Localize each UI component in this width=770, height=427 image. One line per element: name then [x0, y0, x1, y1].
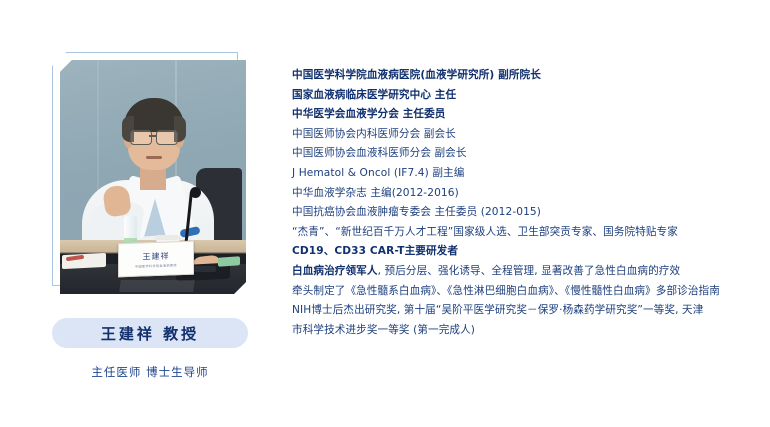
credential-line: “杰青”、“新世纪百千万人才工程”国家级人选、卫生部突贡专家、国务院特贴专家 [292, 223, 764, 243]
speaker-title-subtitle: 主任医师 博士生导师 [52, 364, 248, 380]
credential-line: 中国医学科学院血液病医院(血液学研究所) 副所院长 [292, 66, 764, 86]
photo-mouth [146, 156, 162, 159]
credential-rest: , 预后分层、强化诱导、全程管理, 显著改善了急性白血病的疗效 [378, 265, 681, 277]
credential-line: 牵头制定了《急性髓系白血病》、《急性淋巴细胞白血病》、《慢性髓性白血病》多部诊治… [292, 282, 764, 302]
credential-lead: 白血病治疗领军人 [292, 265, 378, 277]
photo-wall-seam-secondary [97, 60, 99, 200]
credential-line: 中国抗癌协会血液肿瘤专委会 主任委员 (2012-015) [292, 203, 764, 223]
speaker-name: 王建祥 教授 [101, 323, 199, 344]
credential-line: 中华血液学杂志 主编(2012-2016) [292, 184, 764, 204]
photo-green-card [218, 256, 240, 267]
photo-placard-subtext: 中国医学科学院血液病医院 [119, 263, 193, 270]
photo-eyeglass-right [156, 130, 178, 145]
credential-line: 市科学技术进步奖一等奖 (第一完成人) [292, 321, 764, 341]
photo-placard-reflection [119, 280, 195, 292]
credential-line: J Hematol & Oncol (IF7.4) 副主编 [292, 164, 764, 184]
credential-line: 中国医师协会血液科医师分会 副会长 [292, 144, 764, 164]
photo-placard-name: 王建祥 [119, 250, 193, 264]
photo-eyeglass-bridge [149, 135, 157, 137]
photo-cup-lid [155, 235, 179, 240]
speaker-name-badge: 王建祥 教授 [52, 318, 248, 348]
photo-name-placard: 王建祥 中国医学科学院血液病医院 [118, 241, 194, 278]
photo-eyeglass-left [130, 130, 152, 145]
credential-line: NIH博士后杰出研究奖, 第十届“吴阶平医学研究奖－保罗·杨森药学研究奖”一等奖… [292, 301, 764, 321]
credentials-list: 中国医学科学院血液病医院(血液学研究所) 副所院长 国家血液病临床医学研究中心 … [292, 66, 764, 340]
credential-line: 中华医学会血液学分会 主任委员 [292, 105, 764, 125]
portrait-photo: 王建祥 中国医学科学院血液病医院 [60, 60, 246, 294]
speaker-profile-slide: 王建祥 中国医学科学院血液病医院 王建祥 教授 主任医师 博士生导师 中国医学科… [0, 0, 770, 427]
credential-line: 中国医师协会内科医师分会 副会长 [292, 125, 764, 145]
credential-line: CD19、CD33 CAR-T主要研发者 [292, 242, 764, 262]
credential-line: 国家血液病临床医学研究中心 主任 [292, 86, 764, 106]
photo-papers [62, 253, 106, 269]
speaker-left-column: 王建祥 中国医学科学院血液病医院 王建祥 教授 主任医师 博士生导师 [52, 52, 264, 380]
photo-microphone-head [190, 187, 201, 198]
credential-line-highlight: 白血病治疗领军人, 预后分层、强化诱导、全程管理, 显著改善了急性白血病的疗效 [292, 262, 764, 282]
portrait-frame: 王建祥 中国医学科学院血液病医院 [52, 52, 248, 296]
